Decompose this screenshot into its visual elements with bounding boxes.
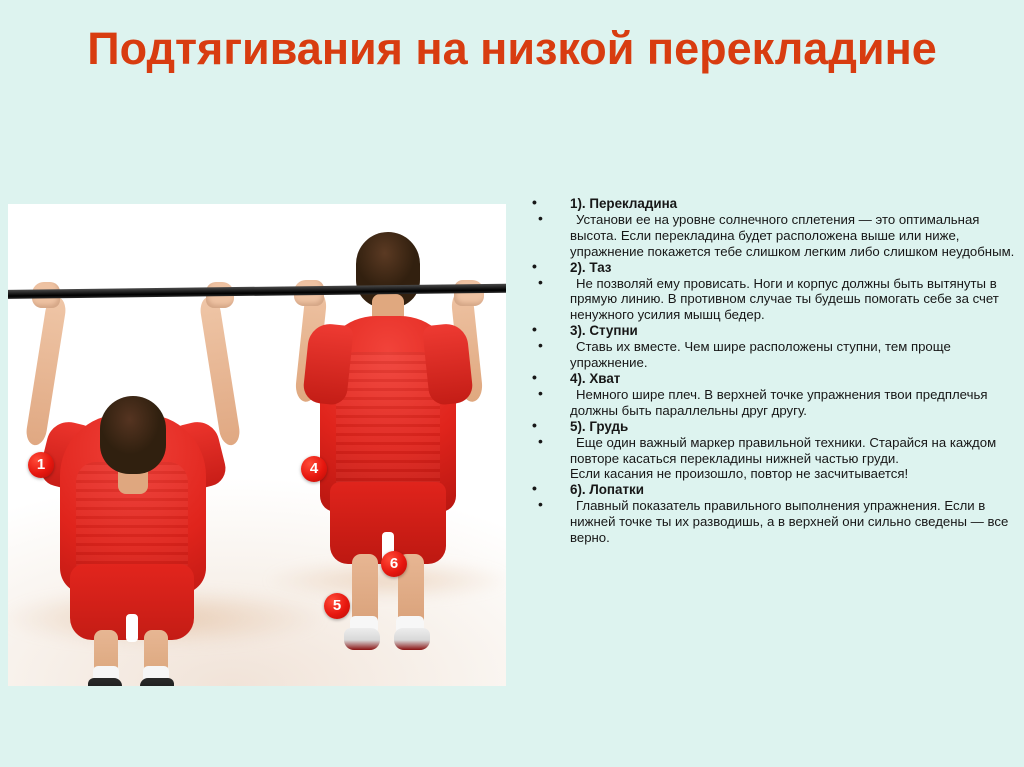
list-item-body-5: Еще один важный маркер правильной техник… (520, 435, 1016, 483)
list-item-body-1: Установи ее на уровне солнечного сплетен… (520, 212, 1016, 260)
list-item-heading-3: 3). Ступни (520, 323, 1016, 339)
callout-marker-5: 5 (324, 593, 350, 619)
right-shoe (140, 678, 174, 686)
page-title: Подтягивания на низкой перекладине (0, 22, 1024, 75)
right-shoe (394, 628, 430, 650)
list-item-body-2: Не позволяй ему провисать. Ноги и корпус… (520, 276, 1016, 324)
instructions-list: 1). Перекладина Установи ее на уровне со… (520, 196, 1016, 546)
athlete-figure-hanging (14, 274, 264, 674)
list-item-body-5-extra: Если касания не произошло, повтор не зас… (570, 466, 1016, 482)
callout-marker-4: 4 (301, 456, 327, 482)
shirt-folds (336, 352, 440, 502)
left-sleeve (302, 322, 354, 406)
list-item-body-3: Ставь их вместе. Чем шире расположены ст… (520, 339, 1016, 371)
list-item-heading-4: 4). Хват (520, 371, 1016, 387)
callout-marker-1: 1 (28, 452, 54, 478)
left-shoe (88, 678, 122, 686)
callout-marker-6: 6 (381, 551, 407, 577)
left-shoe (344, 628, 380, 650)
list-item-body-5-main: Еще один важный маркер правильной техник… (570, 435, 996, 466)
list-item-heading-1: 1). Перекладина (520, 196, 1016, 212)
list-item-heading-6: 6). Лопатки (520, 482, 1016, 498)
list-item-heading-2: 2). Таз (520, 260, 1016, 276)
exercise-photo: Men'sHealth МУЖСКАЯ ТЕРРИТОРИЯ (8, 204, 506, 686)
list-item-body-4: Немного шире плеч. В верхней точке упраж… (520, 387, 1016, 419)
list-item-body-6: Главный показатель правильного выполнени… (520, 498, 1016, 546)
shorts-gap (126, 614, 138, 642)
head (100, 396, 166, 474)
list-item-heading-5: 5). Грудь (520, 419, 1016, 435)
photo-backdrop: Men'sHealth МУЖСКАЯ ТЕРРИТОРИЯ (8, 204, 506, 686)
